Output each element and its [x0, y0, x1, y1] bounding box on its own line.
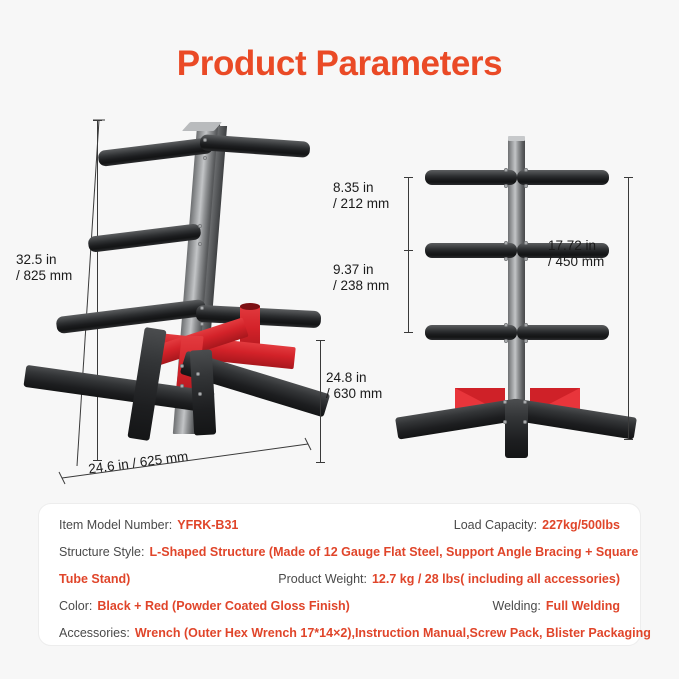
spec-cell-load-capacity: Load Capacity: 227kg/500lbs: [454, 518, 620, 532]
front-bolt-base-d: [523, 420, 527, 424]
front-bolt-top-b: [524, 168, 528, 172]
depth-dimension-line: [320, 340, 321, 462]
spec-value-color: Black + Red (Powder Coated Gloss Finish): [97, 599, 349, 613]
bolt-bot-b: [200, 322, 204, 326]
spec-label-accessories: Accessories:: [59, 626, 130, 640]
spec-label-product-weight: Product Weight:: [278, 572, 367, 586]
front-peg-bottom-left: [425, 325, 517, 340]
bolt-top-b: [203, 156, 207, 160]
front-bolt-top-a: [504, 168, 508, 172]
front-peg-mid-left: [425, 243, 517, 258]
front-bolt-top-d: [524, 184, 528, 188]
front-bolt-bot-d: [524, 339, 528, 343]
table-row: Structure Style: L-Shaped Structure (Mad…: [59, 545, 620, 570]
front-bolt-base-b: [523, 400, 527, 404]
peg-gap-top-line: [408, 177, 409, 250]
spec-cell-accessories: Accessories: Wrench (Outer Hex Wrench 17…: [59, 626, 651, 640]
front-bolt-bot-a: [504, 323, 508, 327]
front-bolt-bot-c: [504, 339, 508, 343]
base-center-column: [190, 349, 216, 435]
table-row: Accessories: Wrench (Outer Hex Wrench 17…: [59, 626, 620, 651]
spec-value-product-weight: 12.7 kg / 28 lbs( including all accessor…: [372, 572, 620, 586]
page-title: Product Parameters: [0, 44, 679, 84]
front-bolt-mid-c: [504, 257, 508, 261]
product-parameters-page: Product Parameters 32.5 in / 825 mm: [0, 0, 679, 679]
right-gap-bottom-label: 9.37 in / 238 mm: [333, 262, 389, 293]
spec-cell-product-weight: Product Weight: 12.7 kg / 28 lbs( includ…: [278, 572, 620, 586]
spec-value-model: YFRK-B31: [177, 518, 238, 532]
front-bolt-base-a: [503, 400, 507, 404]
spec-cell-structure-style: Structure Style: L-Shaped Structure (Mad…: [59, 545, 638, 559]
spec-label-load-capacity: Load Capacity:: [454, 518, 537, 532]
bolt-bot-a: [200, 306, 204, 310]
peg-span-tick-bottom: [624, 439, 633, 440]
front-bolt-mid-a: [504, 241, 508, 245]
spec-value-load-capacity: 227kg/500lbs: [542, 518, 620, 532]
peg-gap-top-tick-1: [404, 177, 413, 178]
peg-span-line: [628, 177, 629, 439]
bolt-base-a: [180, 364, 184, 368]
bolt-top-a: [203, 138, 207, 142]
spec-cell-color: Color: Black + Red (Powder Coated Gloss …: [59, 599, 350, 613]
left-depth-label: 24.8 in / 630 mm: [326, 370, 382, 401]
barbell-holder-opening: [240, 303, 260, 310]
bolt-base-d: [198, 392, 202, 396]
front-bolt-top-c: [504, 184, 508, 188]
front-bolt-base-c: [503, 420, 507, 424]
bolt-mid-b: [198, 242, 202, 246]
right-span-label: 17.72 in / 450 mm: [548, 238, 604, 269]
spec-value-welding: Full Welding: [546, 599, 620, 613]
spec-label-color: Color:: [59, 599, 92, 613]
depth-tick-bottom: [316, 462, 325, 463]
spec-cell-structure-style-cont: Tube Stand): [59, 572, 130, 586]
right-gap-top-label: 8.35 in / 212 mm: [333, 180, 389, 211]
front-peg-bottom-right: [517, 325, 609, 340]
spec-value-structure-style-cont: Tube Stand): [59, 572, 130, 586]
spec-cell-model: Item Model Number: YFRK-B31: [59, 518, 238, 532]
peg-gap-bottom-line: [408, 250, 409, 332]
front-peg-top-right: [517, 170, 609, 185]
front-base-column: [505, 400, 528, 458]
front-bolt-bot-b: [524, 323, 528, 327]
peg-span-tick-top: [624, 177, 633, 178]
front-bolt-mid-d: [524, 257, 528, 261]
spec-value-structure-style: L-Shaped Structure (Made of 12 Gauge Fla…: [149, 545, 638, 559]
spec-value-accessories: Wrench (Outer Hex Wrench 17*14×2),Instru…: [135, 626, 651, 640]
depth-tick-top: [316, 340, 325, 341]
spec-label-model: Item Model Number:: [59, 518, 172, 532]
specification-table: Item Model Number: YFRK-B31 Load Capacit…: [38, 503, 641, 646]
spec-label-welding: Welding:: [493, 599, 541, 613]
front-peg-top-left: [425, 170, 517, 185]
front-bolt-mid-b: [524, 241, 528, 245]
peg-gap-bottom-tick: [404, 332, 413, 333]
table-row: Tube Stand) Product Weight: 12.7 kg / 28…: [59, 572, 620, 597]
front-post-top-cap: [508, 136, 525, 141]
table-row: Item Model Number: YFRK-B31 Load Capacit…: [59, 518, 620, 543]
spec-label-structure-style: Structure Style:: [59, 545, 144, 559]
spec-cell-welding: Welding: Full Welding: [493, 599, 621, 613]
diagram-area: 32.5 in / 825 mm: [0, 100, 679, 495]
bolt-base-c: [180, 384, 184, 388]
bolt-base-b: [196, 372, 200, 376]
table-row: Color: Black + Red (Powder Coated Gloss …: [59, 599, 620, 624]
bolt-mid-a: [198, 224, 202, 228]
left-height-label: 32.5 in / 825 mm: [16, 252, 72, 283]
height-dimension-guide: [75, 118, 115, 468]
